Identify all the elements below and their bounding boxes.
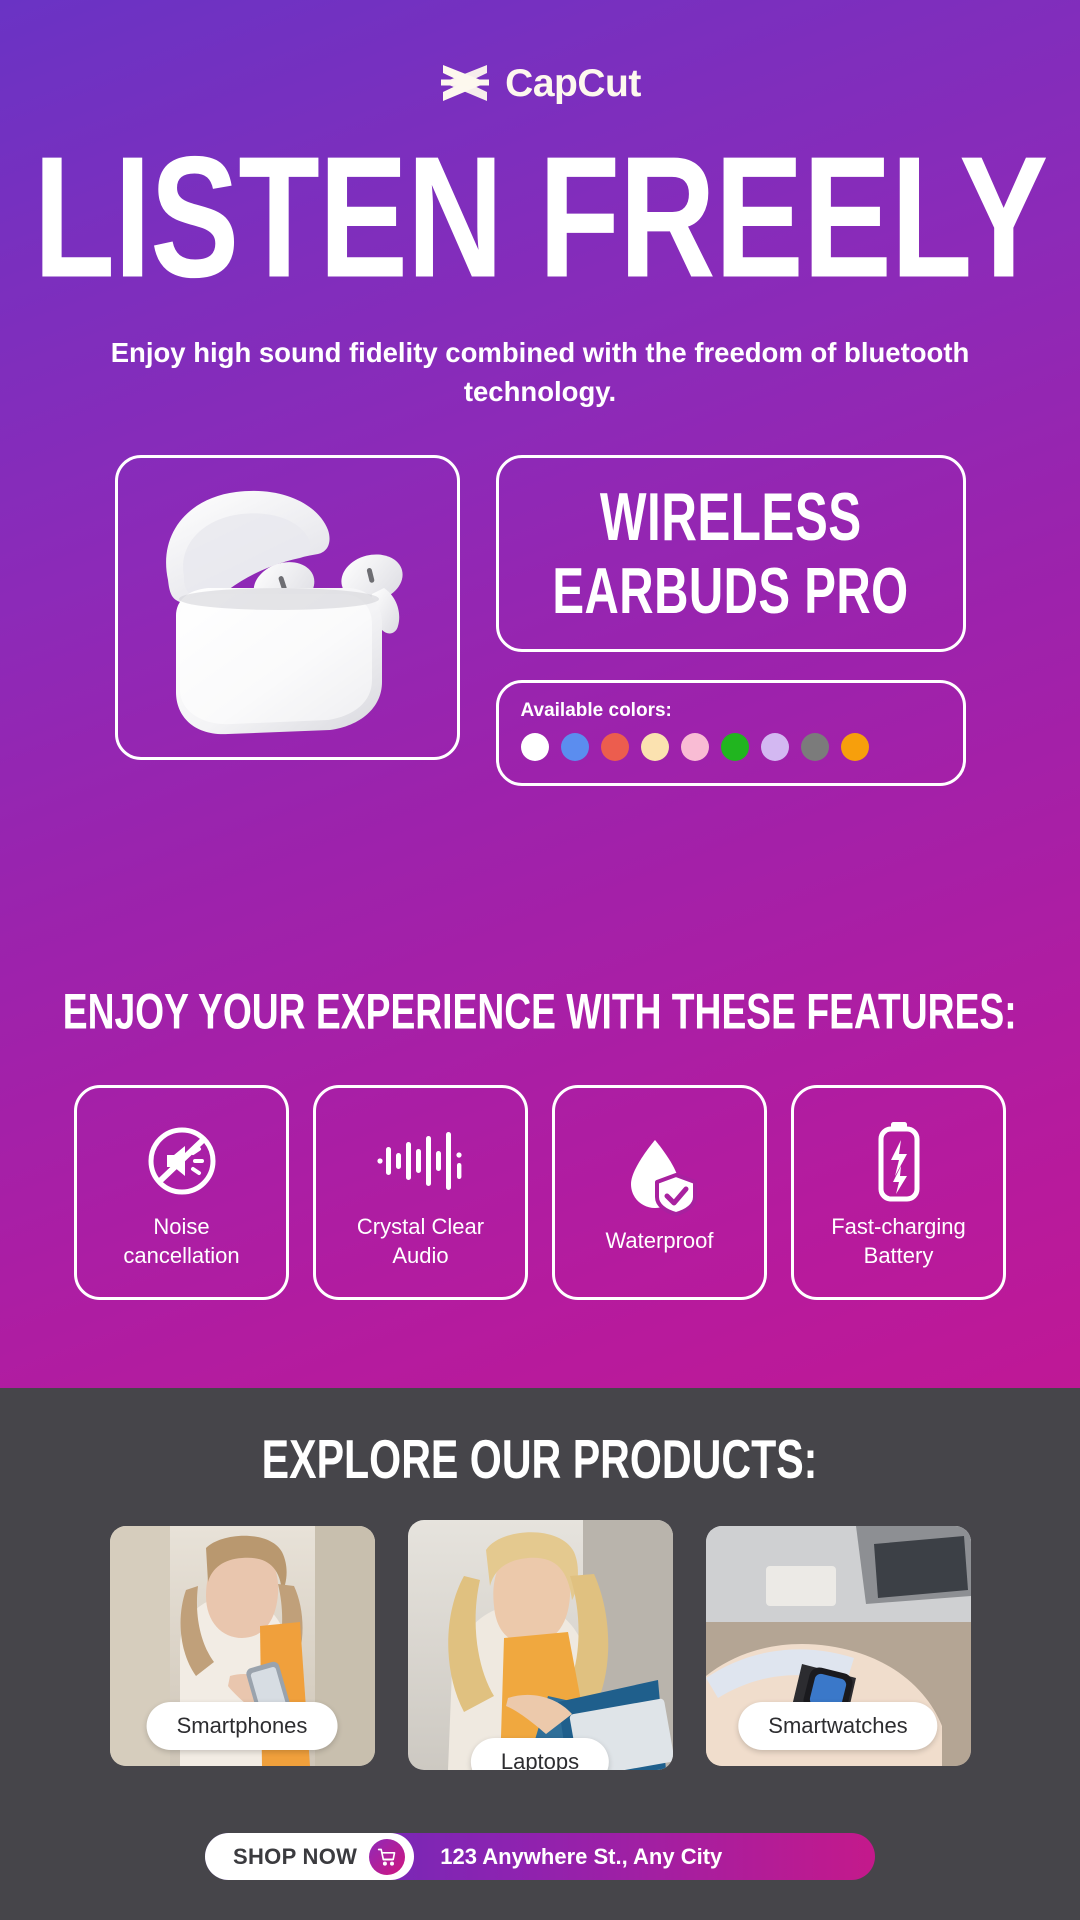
feature-card-noise-cancellation: Noise cancellation [74,1085,289,1300]
product-panels: WIRELESS EARBUDS PRO Available colors: [0,455,1080,786]
explore-heading: EXPLORE OUR PRODUCTS: [0,1436,1080,1484]
battery-charging-icon [868,1115,930,1207]
explore-product-list: Smartphones [0,1526,1080,1770]
woman-using-laptop-image [408,1520,673,1770]
hero-subtitle: Enjoy high sound fidelity combined with … [90,333,990,411]
shopping-cart-icon [369,1839,405,1875]
product-info-column: WIRELESS EARBUDS PRO Available colors: [496,455,966,786]
waterproof-droplet-shield-icon [621,1129,699,1221]
product-title-line2: EARBUDS PRO [552,558,908,623]
explore-card-smartwatches[interactable]: Smartwatches [706,1526,971,1766]
explore-heading-text: EXPLORE OUR PRODUCTS: [262,1429,818,1491]
color-swatch-green[interactable] [721,733,749,761]
color-swatch-gray[interactable] [801,733,829,761]
feature-label-line2: Audio [392,1243,448,1268]
explore-card-smartphones[interactable]: Smartphones [110,1526,375,1766]
color-swatch-blue[interactable] [561,733,589,761]
headline-text: LISTEN FREELY [33,128,1047,306]
shop-now-label: SHOP NOW [233,1844,357,1870]
feature-label-line2: Battery [864,1243,934,1268]
product-title-line1: WIRELESS [600,484,862,552]
color-swatch-cream[interactable] [641,733,669,761]
noise-cancellation-icon [143,1115,221,1207]
product-image-card [115,455,460,760]
explore-label-smartwatches[interactable]: Smartwatches [738,1702,937,1750]
color-swatch-coral[interactable] [601,733,629,761]
audio-waveform-icon [375,1115,467,1207]
earbuds-case-image [132,468,442,748]
feature-label: Crystal Clear Audio [349,1213,492,1270]
brand-name: CapCut [505,64,641,103]
explore-card-laptops[interactable]: Laptops [408,1520,673,1770]
features-list: Noise cancellation [0,1085,1080,1300]
feature-label: Waterproof [597,1227,721,1256]
color-swatch-pink[interactable] [681,733,709,761]
feature-label-line2: cancellation [123,1243,239,1268]
feature-label-line1: Fast-charging [831,1214,966,1239]
features-heading-text: ENJOY YOUR EXPERIENCE WITH THESE FEATURE… [63,985,1017,1042]
product-title-card: WIRELESS EARBUDS PRO [496,455,966,652]
available-colors-label: Available colors: [521,700,941,722]
footer-bar: SHOP NOW 123 Anywhere St., Any City [205,1833,875,1880]
feature-label-line1: Noise [153,1214,209,1239]
brand-logo: CapCut [0,62,1080,104]
explore-label-smartphones[interactable]: Smartphones [147,1702,338,1750]
feature-card-fast-charging-battery: Fast-charging Battery [791,1085,1006,1300]
color-swatch-white[interactable] [521,733,549,761]
hero-section: CapCut LISTEN FREELY Enjoy high sound fi… [0,0,1080,1388]
feature-label-line1: Crystal Clear [357,1214,484,1239]
feature-card-crystal-clear-audio: Crystal Clear Audio [313,1085,528,1300]
color-swatch-orange[interactable] [841,733,869,761]
feature-card-waterproof: Waterproof [552,1085,767,1300]
explore-label-laptops[interactable]: Laptops [471,1738,609,1770]
footer-address: 123 Anywhere St., Any City [440,1844,722,1870]
color-swatch-lavender[interactable] [761,733,789,761]
feature-label-line1: Waterproof [605,1228,713,1253]
features-heading: ENJOY YOUR EXPERIENCE WITH THESE FEATURE… [0,992,1080,1035]
capcut-logo-icon [439,62,491,104]
color-swatch-list [521,733,941,761]
page-title: LISTEN FREELY [0,128,1080,267]
available-colors-card: Available colors: [496,680,966,786]
shop-now-button[interactable]: SHOP NOW [205,1833,414,1880]
feature-label: Fast-charging Battery [823,1213,974,1270]
feature-label: Noise cancellation [115,1213,247,1270]
